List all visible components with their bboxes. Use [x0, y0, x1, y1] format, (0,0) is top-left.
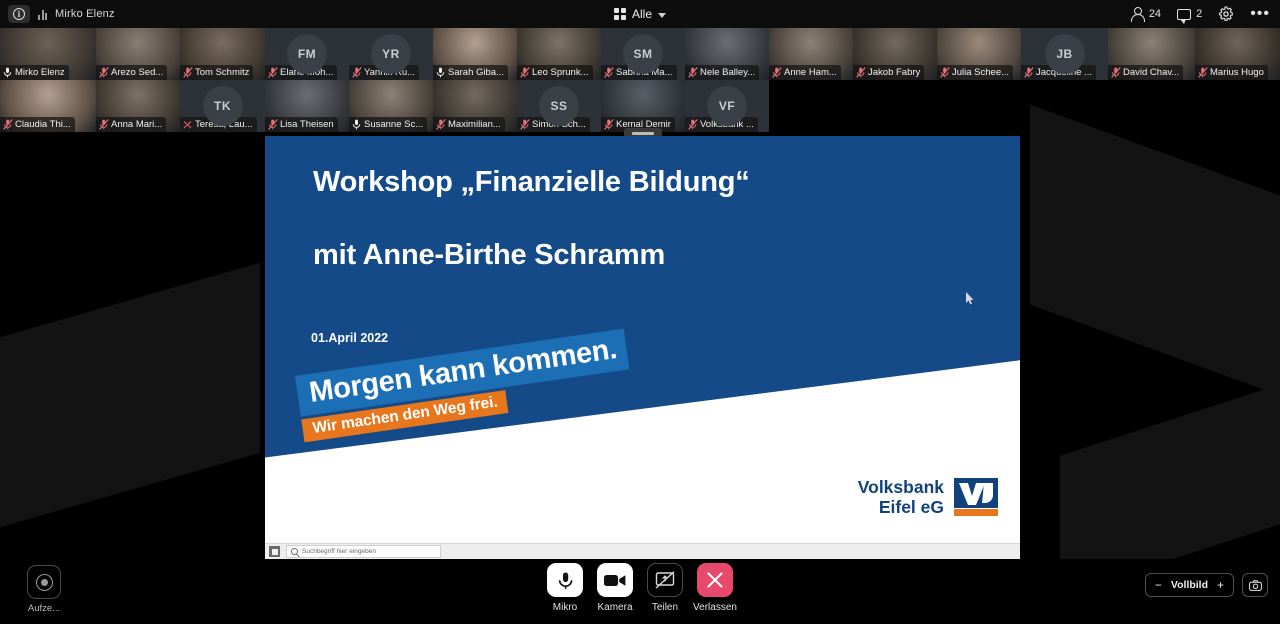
gear-icon[interactable] — [1218, 6, 1234, 22]
shared-screen-region: Workshop „Finanzielle Bildung“ mit Anne-… — [265, 136, 1020, 559]
participant-name-bar: Marius Hugo — [1195, 65, 1268, 80]
record-icon — [27, 565, 61, 599]
participant-thumbnail[interactable]: Susanne Sc... — [349, 80, 433, 132]
participant-thumbnail[interactable]: Sarah Giba... — [433, 28, 517, 80]
participant-name: Tom Schmitz — [195, 67, 249, 78]
chat-count: 2 — [1196, 8, 1202, 20]
participant-thumbnail[interactable]: Tom Schmitz — [180, 28, 265, 80]
participant-name: Arezo Sed... — [111, 67, 163, 78]
host-name-label: Mirko Elenz — [55, 8, 115, 20]
close-x-icon — [697, 563, 733, 597]
microphone-muted-icon — [1198, 67, 1207, 78]
microphone-muted-icon — [856, 67, 865, 78]
participant-name-bar: Sarah Giba... — [433, 65, 508, 80]
person-icon — [1131, 7, 1144, 21]
logo-line2: Eifel eG — [858, 497, 944, 517]
participant-name-bar: Anna Mari... — [96, 117, 166, 132]
volksbank-v-logo — [954, 478, 998, 516]
participant-thumbnail[interactable]: Mirko Elenz — [0, 28, 96, 80]
microphone-icon — [352, 119, 361, 130]
participant-name: Nele Balley... — [700, 67, 755, 78]
shared-slide[interactable]: Workshop „Finanzielle Bildung“ mit Anne-… — [265, 136, 1020, 559]
control-label: Verlassen — [693, 602, 737, 613]
control-label: Mikro — [553, 602, 577, 613]
windows-start-icon[interactable] — [269, 546, 280, 557]
top-bar-right: 24 2 ••• — [1131, 0, 1270, 28]
participant-name: Susanne Sc... — [364, 119, 423, 130]
participant-thumbnail[interactable]: Anna Mari... — [96, 80, 180, 132]
microphone-muted-icon — [3, 119, 12, 130]
participant-name: Lisa Theisen — [280, 119, 334, 130]
microphone-icon — [547, 563, 583, 597]
microphone-muted-icon — [1024, 67, 1033, 78]
microphone-muted-icon — [99, 67, 108, 78]
participant-thumbnail[interactable]: Jakob Fabry — [853, 28, 937, 80]
microphone-muted-icon — [688, 119, 697, 130]
slide-title: Workshop „Finanzielle Bildung“ mit Anne-… — [313, 166, 953, 272]
participant-thumbnail[interactable]: TKTeresa, Lau... — [180, 80, 265, 132]
top-bar: i Mirko Elenz Alle 24 2 ••• — [0, 0, 1280, 28]
logo-text: Volksbank Eifel eG — [858, 477, 944, 517]
participant-name: David Chav... — [1123, 67, 1179, 78]
participant-name-bar: Nele Balley... — [685, 65, 759, 80]
participant-thumbnail[interactable]: Nele Balley... — [685, 28, 769, 80]
participant-thumbnail[interactable]: David Chav... — [1108, 28, 1195, 80]
avatar-initials: SM — [634, 47, 653, 61]
participant-thumbnail[interactable]: YRYannik Ru... — [349, 28, 433, 80]
microphone-muted-icon — [520, 67, 529, 78]
teilen-button[interactable]: Teilen — [647, 563, 683, 613]
participant-name: Marius Hugo — [1210, 67, 1264, 78]
avatar-initials: SS — [550, 99, 567, 113]
participant-name-bar: Maximilian... — [433, 117, 505, 132]
microphone-muted-icon — [604, 67, 613, 78]
record-button[interactable]: Aufze... — [27, 565, 61, 614]
bottom-control-bar: Aufze... MikroKameraTeilenVerlassen − Vo… — [0, 559, 1280, 624]
participant-thumbnail[interactable]: Leo Sprunk... — [517, 28, 601, 80]
participant-name: Claudia Thi... — [15, 119, 71, 130]
view-mode-selector[interactable]: Alle — [614, 0, 666, 28]
grid-view-icon — [614, 8, 626, 20]
verlassen-button[interactable]: Verlassen — [697, 563, 733, 613]
slide-title-line1: Workshop „Finanzielle Bildung“ — [313, 166, 750, 198]
participant-name-bar: Claudia Thi... — [0, 117, 75, 132]
mouse-cursor — [966, 292, 974, 304]
avatar-initials: TK — [214, 99, 231, 113]
mikro-button[interactable]: Mikro — [547, 563, 583, 613]
no-video-icon — [183, 119, 192, 130]
background-shape — [1030, 105, 1280, 396]
participant-name: Jakob Fabry — [868, 67, 920, 78]
chat-bubble-icon — [1177, 9, 1191, 20]
participant-name-bar: Jakob Fabry — [853, 65, 924, 80]
microphone-icon — [436, 67, 445, 78]
snapshot-camera-icon[interactable] — [1242, 573, 1268, 597]
thumbnail-row-1: Mirko ElenzArezo Sed...Tom SchmitzFMElah… — [0, 28, 1280, 80]
search-icon — [291, 548, 298, 555]
microphone-muted-icon — [99, 119, 108, 130]
avatar-initials: FM — [298, 47, 316, 61]
participant-name-bar: David Chav... — [1108, 65, 1183, 80]
participant-name-bar: Julia Schee... — [937, 65, 1013, 80]
control-label: Kamera — [597, 602, 632, 613]
participant-name: Maximilian... — [448, 119, 501, 130]
participants-button[interactable]: 24 — [1131, 7, 1161, 21]
avatar-initials: JB — [1056, 47, 1072, 61]
view-mode-label: Alle — [632, 7, 652, 21]
zoom-out-button[interactable]: − — [1155, 578, 1162, 592]
volksbank-logo: Volksbank Eifel eG — [858, 477, 998, 517]
participant-thumbnail[interactable]: Claudia Thi... — [0, 80, 96, 132]
microphone-muted-icon — [436, 119, 445, 130]
participant-name-bar: Lisa Theisen — [265, 117, 338, 132]
logo-line1: Volksbank — [858, 477, 944, 497]
camera-icon — [597, 563, 633, 597]
chevron-down-icon — [658, 13, 666, 18]
microphone-muted-icon — [352, 67, 361, 78]
participant-thumbnail[interactable]: Julia Schee... — [937, 28, 1021, 80]
microphone-muted-icon — [268, 119, 277, 130]
share-screen-off-icon — [647, 563, 683, 597]
avatar-initials: YR — [382, 47, 400, 61]
thumbnail-row-2: Claudia Thi...Anna Mari...TKTeresa, Lau.… — [0, 80, 1280, 132]
meeting-controls: MikroKameraTeilenVerlassen — [547, 563, 733, 613]
participant-name: Mirko Elenz — [15, 67, 65, 78]
top-bar-left: i Mirko Elenz — [0, 5, 115, 23]
participant-thumbnail[interactable]: Marius Hugo — [1195, 28, 1280, 80]
participant-thumbnail[interactable]: VFVolksbank ... — [685, 80, 769, 132]
kamera-button[interactable]: Kamera — [597, 563, 633, 613]
microphone-muted-icon — [772, 67, 781, 78]
windows-taskbar: Suchbegriff hier eingeben — [265, 543, 1020, 559]
participants-count: 24 — [1149, 8, 1161, 20]
microphone-muted-icon — [520, 119, 529, 130]
participant-name: Sarah Giba... — [448, 67, 504, 78]
microphone-muted-icon — [688, 67, 697, 78]
participant-thumbnail[interactable]: Lisa Theisen — [265, 80, 349, 132]
participant-name: Leo Sprunk... — [532, 67, 589, 78]
participant-name: Anne Ham... — [784, 67, 837, 78]
microphone-muted-icon — [268, 67, 277, 78]
participant-name: Anna Mari... — [111, 119, 162, 130]
microphone-muted-icon — [1111, 67, 1120, 78]
participant-name-bar: Arezo Sed... — [96, 65, 167, 80]
participant-name-bar: Mirko Elenz — [0, 65, 69, 80]
search-input[interactable]: Suchbegriff hier eingeben — [286, 545, 441, 558]
more-options-icon[interactable]: ••• — [1250, 9, 1270, 19]
participant-thumbnail[interactable]: FMElahe Moh... — [265, 28, 349, 80]
slide-title-line2: mit Anne-Birthe Schramm — [313, 239, 953, 272]
info-glyph: i — [13, 8, 25, 20]
participant-name-bar: Leo Sprunk... — [517, 65, 593, 80]
microphone-muted-icon — [604, 119, 613, 130]
chat-button[interactable]: 2 — [1177, 8, 1202, 20]
microphone-muted-icon — [183, 67, 192, 78]
control-label: Teilen — [652, 602, 678, 613]
background-shape — [0, 263, 260, 528]
participant-thumbnail[interactable]: Arezo Sed... — [96, 28, 180, 80]
participant-thumbnail[interactable]: JBJacqueline ... — [1021, 28, 1108, 80]
microphone-icon — [3, 67, 12, 78]
participant-name-bar: Anne Ham... — [769, 65, 841, 80]
participant-name-bar: Tom Schmitz — [180, 65, 253, 80]
audio-levels-icon — [38, 9, 47, 20]
zoom-meeting-window: i Mirko Elenz Alle 24 2 ••• — [0, 0, 1280, 624]
participant-name-bar: Susanne Sc... — [349, 117, 427, 132]
fullscreen-button[interactable]: − Vollbild + — [1145, 573, 1234, 597]
participant-thumbnail[interactable]: Anne Ham... — [769, 28, 853, 80]
slide-date: 01.April 2022 — [311, 331, 388, 345]
participant-thumbnail-strip: Mirko ElenzArezo Sed...Tom SchmitzFMElah… — [0, 28, 1280, 132]
participant-name: Julia Schee... — [952, 67, 1009, 78]
participant-thumbnail[interactable]: Kemal Demir — [601, 80, 685, 132]
view-controls: − Vollbild + — [1145, 573, 1268, 597]
microphone-muted-icon — [940, 67, 949, 78]
info-icon[interactable]: i — [8, 5, 30, 23]
zoom-in-button[interactable]: + — [1217, 578, 1224, 592]
avatar-initials: VF — [719, 99, 735, 113]
fullscreen-label: Vollbild — [1171, 579, 1208, 591]
participant-thumbnail[interactable]: SMSabrina Ma... — [601, 28, 685, 80]
participant-thumbnail[interactable]: SSSimon Sch... — [517, 80, 601, 132]
record-label: Aufze... — [28, 603, 60, 614]
participant-thumbnail[interactable]: Maximilian... — [433, 80, 517, 132]
search-placeholder: Suchbegriff hier eingeben — [302, 548, 376, 555]
